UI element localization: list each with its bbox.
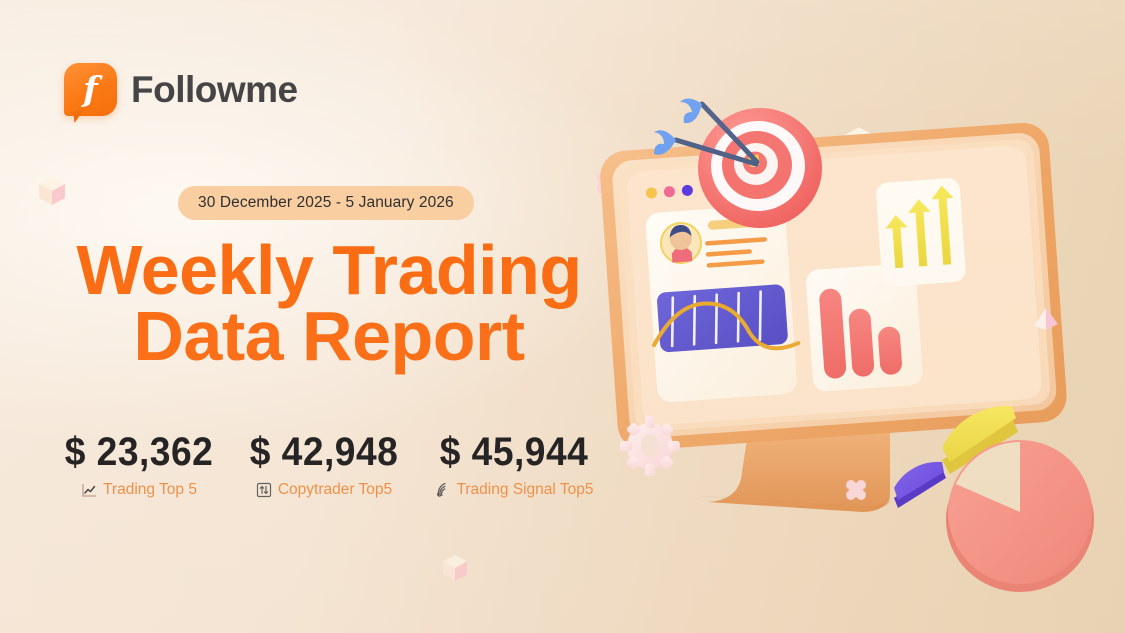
copytrade-transfer-icon xyxy=(256,482,272,498)
followme-f-logo-icon xyxy=(64,63,117,116)
growth-arrows-card xyxy=(875,177,966,287)
decor-cube-left xyxy=(38,176,66,206)
stats-row: $ 23,362 Trading Top 5 $ 42,948 xyxy=(44,430,614,499)
title-line-2: Data Report xyxy=(44,304,614,370)
stat-label: Copytrader Top5 xyxy=(278,481,392,499)
3d-analytics-monitor-illustration xyxy=(590,60,1125,620)
brand-logo[interactable]: Followme xyxy=(64,63,298,116)
date-range-badge: 30 December 2025 - 5 January 2026 xyxy=(178,186,474,220)
stat-trading-signal-top5: $ 45,944 Trading Signal Top5 xyxy=(414,430,614,499)
line-chart-icon xyxy=(81,482,97,498)
stat-value: $ 23,362 xyxy=(51,430,228,475)
stat-label: Trading Top 5 xyxy=(103,481,197,499)
stat-value: $ 45,944 xyxy=(421,430,607,475)
banner-canvas: Followme 30 Dece xyxy=(0,0,1125,633)
screen-content xyxy=(626,145,1043,426)
page-title: Weekly Trading Data Report xyxy=(44,238,614,370)
decor-flower-stand xyxy=(846,480,866,500)
stat-trading-top5: $ 23,362 Trading Top 5 xyxy=(44,430,234,499)
profile-card xyxy=(645,203,802,403)
stat-copytrader-top5: $ 42,948 Copytrader Top5 xyxy=(234,430,414,499)
brand-name: Followme xyxy=(131,69,298,111)
dartboard-target xyxy=(698,108,822,228)
stat-label: Trading Signal Top5 xyxy=(456,481,593,499)
signal-waves-icon xyxy=(434,482,450,498)
exploded-pie-chart xyxy=(894,406,1094,592)
decor-cube-bottom xyxy=(442,554,468,582)
stat-value: $ 42,948 xyxy=(240,430,407,475)
